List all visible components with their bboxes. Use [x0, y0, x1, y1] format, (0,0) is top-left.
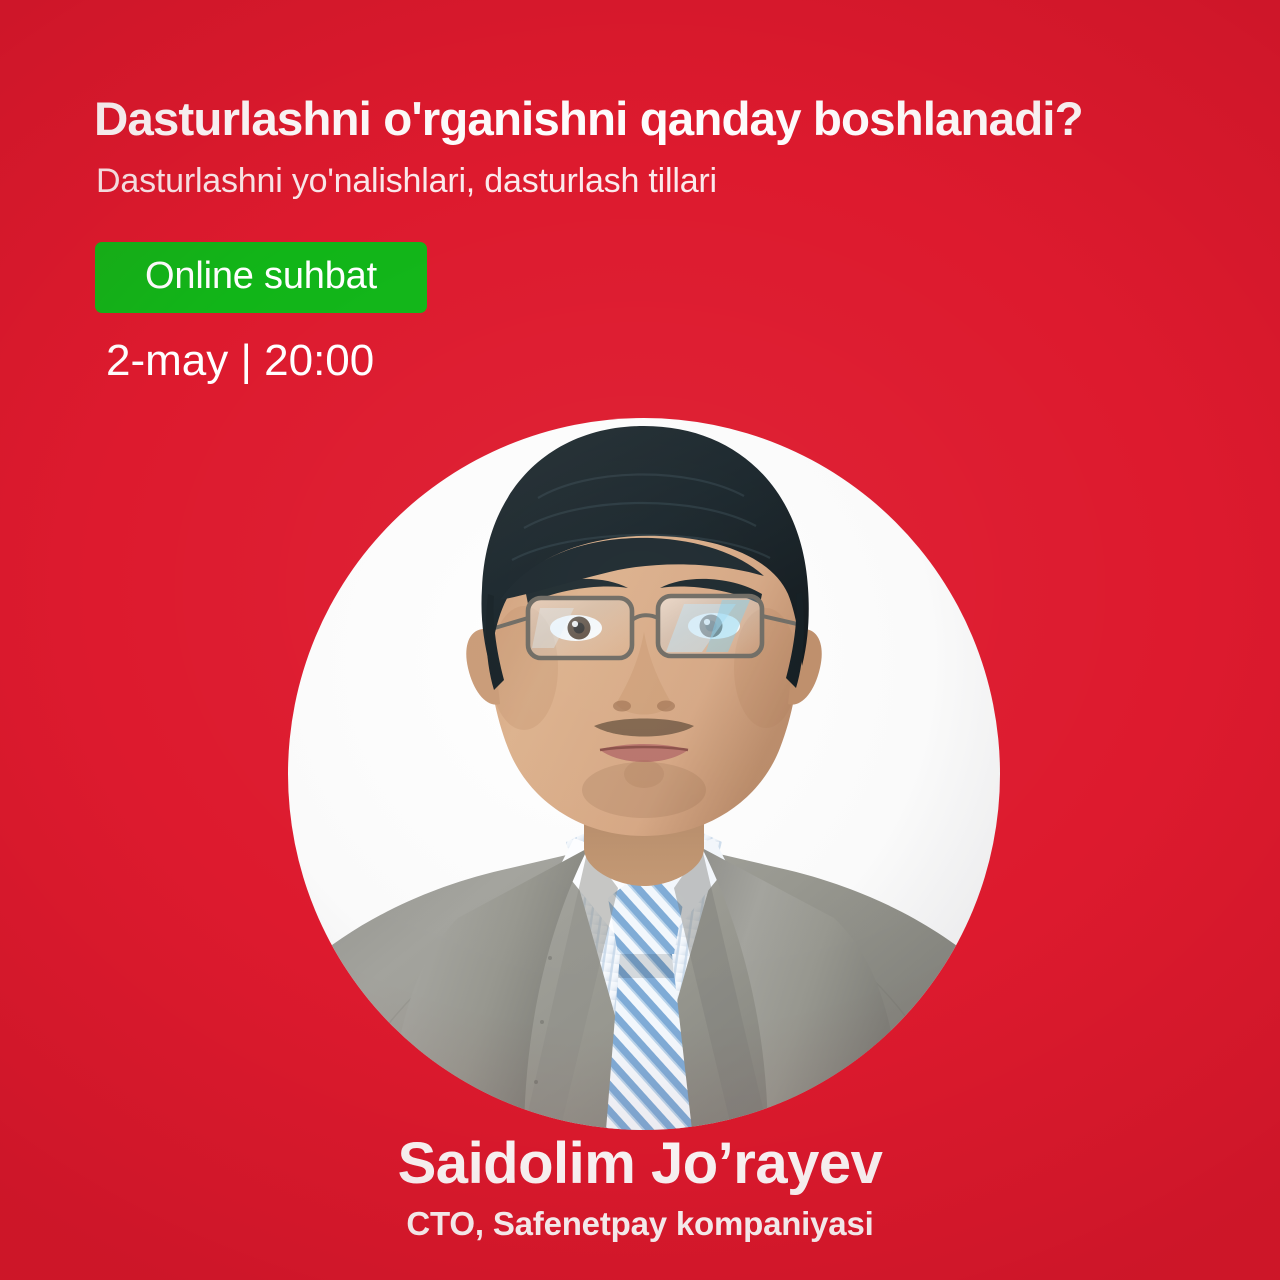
event-datetime: 2-may | 20:00 — [106, 337, 374, 385]
speaker-role: CTO, Safenetpay kompaniyasi — [0, 1206, 1280, 1242]
speaker-avatar — [288, 418, 1000, 1130]
online-suhbat-badge[interactable]: Online suhbat — [95, 242, 427, 313]
page-subtitle: Dasturlashni yo'nalishlari, dasturlash t… — [96, 160, 717, 203]
event-poster: Dasturlashni o'rganishni qanday boshlana… — [0, 0, 1280, 1280]
page-title: Dasturlashni o'rganishni qanday boshlana… — [94, 92, 1234, 148]
speaker-portrait-illustration — [288, 418, 1000, 1130]
speaker-name: Saidolim Jo’rayev — [0, 1133, 1280, 1196]
badge-label: Online suhbat — [145, 257, 377, 298]
